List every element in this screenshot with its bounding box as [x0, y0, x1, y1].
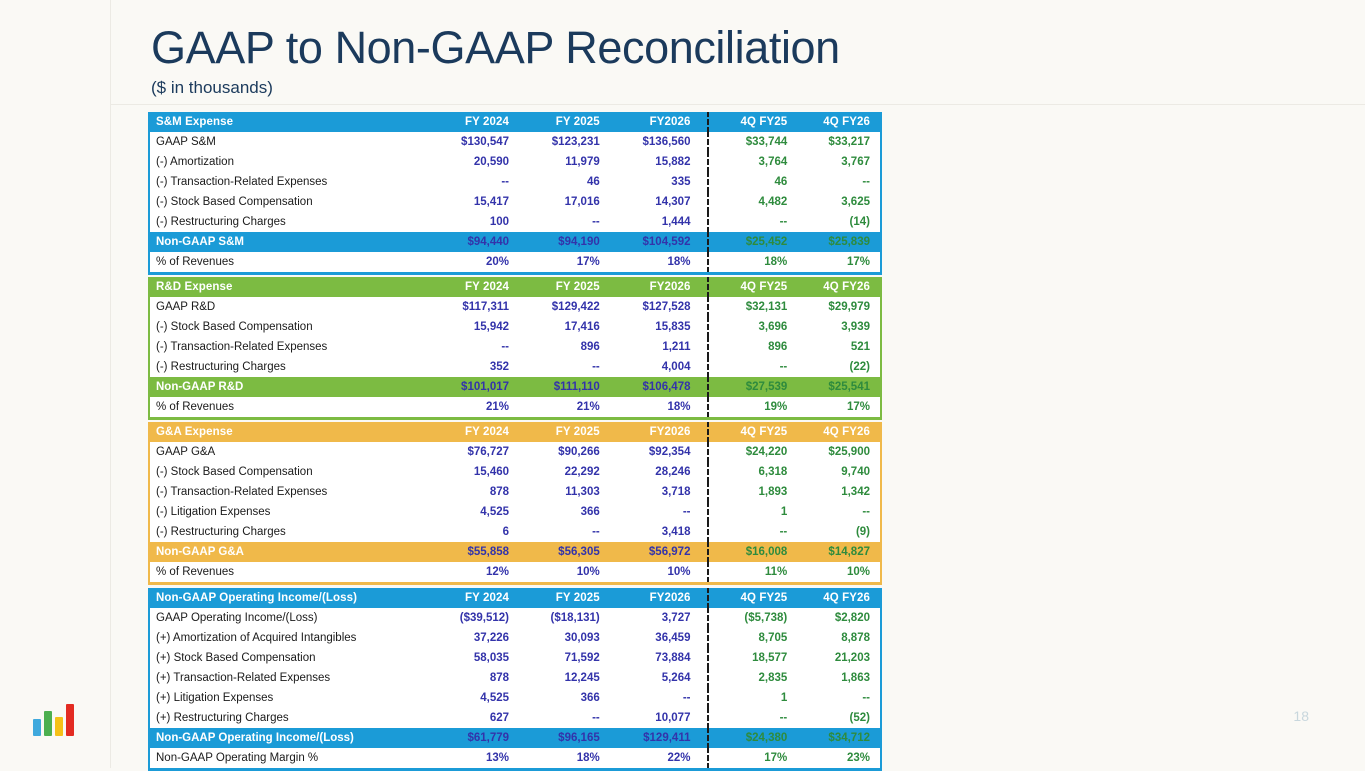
column-divider: [700, 152, 714, 172]
cell-value: 21%: [519, 397, 610, 417]
left-guide-rule: [110, 0, 111, 768]
column-divider: [700, 317, 714, 337]
table-header-label: S&M Expense: [150, 112, 428, 132]
cell-value: 4,525: [428, 502, 519, 522]
cell-value: 12%: [428, 562, 519, 582]
column-header: FY 2025: [519, 588, 610, 608]
cell-value: (9): [797, 522, 880, 542]
column-divider: [700, 337, 714, 357]
cell-value: 17,416: [519, 317, 610, 337]
reconciliation-table-1: S&M ExpenseFY 2024FY 2025FY20264Q FY254Q…: [148, 112, 882, 275]
cell-value: $94,190: [519, 232, 610, 252]
logo-bar-red: [66, 704, 74, 736]
cell-value: $29,979: [797, 297, 880, 317]
bar-chart-logo: [33, 702, 79, 736]
cell-value: 17%: [797, 252, 880, 272]
cell-value: 18%: [610, 252, 701, 272]
table-row: GAAP G&A$76,727$90,266$92,354$24,220$25,…: [150, 442, 880, 462]
cell-value: 30,093: [519, 628, 610, 648]
cell-value: $92,354: [610, 442, 701, 462]
column-divider: [700, 688, 714, 708]
cell-value: $111,110: [519, 377, 610, 397]
column-header: 4Q FY26: [797, 112, 880, 132]
cell-value: ($5,738): [715, 608, 798, 628]
cell-value: 3,696: [715, 317, 798, 337]
cell-value: $2,820: [797, 608, 880, 628]
column-divider: [700, 502, 714, 522]
cell-value: (22): [797, 357, 880, 377]
cell-value: $127,528: [610, 297, 701, 317]
cell-value: $104,592: [610, 232, 701, 252]
cell-value: 8,878: [797, 628, 880, 648]
table-row: (-) Restructuring Charges100--1,444--(14…: [150, 212, 880, 232]
cell-value: 71,592: [519, 648, 610, 668]
table-header-label: R&D Expense: [150, 277, 428, 297]
cell-value: 3,727: [610, 608, 701, 628]
row-label: % of Revenues: [150, 562, 428, 582]
table-header-row: Non-GAAP Operating Income/(Loss)FY 2024F…: [150, 588, 880, 608]
column-header: 4Q FY26: [797, 588, 880, 608]
page-subtitle: ($ in thousands): [151, 77, 840, 99]
row-label: (-) Transaction-Related Expenses: [150, 482, 428, 502]
cell-value: 20%: [428, 252, 519, 272]
cell-value: 17%: [797, 397, 880, 417]
column-header: FY2026: [610, 112, 701, 132]
table-row: GAAP R&D$117,311$129,422$127,528$32,131$…: [150, 297, 880, 317]
cell-value: 4,004: [610, 357, 701, 377]
cell-value: 3,718: [610, 482, 701, 502]
cell-value: 17%: [519, 252, 610, 272]
cell-value: $56,305: [519, 542, 610, 562]
cell-value: --: [715, 522, 798, 542]
table-row: (-) Restructuring Charges352--4,004--(22…: [150, 357, 880, 377]
cell-value: $55,858: [428, 542, 519, 562]
row-label: (-) Amortization: [150, 152, 428, 172]
row-label: (-) Stock Based Compensation: [150, 462, 428, 482]
cell-value: $136,560: [610, 132, 701, 152]
cell-value: $33,217: [797, 132, 880, 152]
cell-value: 14,307: [610, 192, 701, 212]
column-divider: [700, 608, 714, 628]
table-row: (-) Stock Based Compensation15,94217,416…: [150, 317, 880, 337]
cell-value: 6,318: [715, 462, 798, 482]
column-header: FY 2024: [428, 112, 519, 132]
table-header-row: G&A ExpenseFY 2024FY 2025FY20264Q FY254Q…: [150, 422, 880, 442]
column-header: FY 2025: [519, 277, 610, 297]
column-divider: [700, 562, 714, 582]
cell-value: 21%: [428, 397, 519, 417]
cell-value: 19%: [715, 397, 798, 417]
table-header-row: R&D ExpenseFY 2024FY 2025FY20264Q FY254Q…: [150, 277, 880, 297]
cell-value: 627: [428, 708, 519, 728]
table-percent-row: % of Revenues21%21%18%19%17%: [150, 397, 880, 417]
cell-value: --: [428, 337, 519, 357]
cell-value: $25,900: [797, 442, 880, 462]
column-header: FY2026: [610, 588, 701, 608]
cell-value: --: [610, 502, 701, 522]
column-divider: [700, 297, 714, 317]
table-summary-row: Non-GAAP Operating Income/(Loss)$61,779$…: [150, 728, 880, 748]
row-label: % of Revenues: [150, 252, 428, 272]
cell-value: 1,893: [715, 482, 798, 502]
cell-value: --: [715, 212, 798, 232]
column-header: 4Q FY26: [797, 277, 880, 297]
row-label: % of Revenues: [150, 397, 428, 417]
cell-value: 22%: [610, 748, 701, 768]
column-header: FY2026: [610, 422, 701, 442]
cell-value: ($39,512): [428, 608, 519, 628]
cell-value: 15,417: [428, 192, 519, 212]
column-divider: [700, 397, 714, 417]
reconciliation-table-3: G&A ExpenseFY 2024FY 2025FY20264Q FY254Q…: [148, 422, 882, 585]
cell-value: 896: [519, 337, 610, 357]
cell-value: 2,835: [715, 668, 798, 688]
row-label: (-) Transaction-Related Expenses: [150, 172, 428, 192]
cell-value: $16,008: [715, 542, 798, 562]
cell-value: $117,311: [428, 297, 519, 317]
cell-value: 15,942: [428, 317, 519, 337]
column-divider: [700, 442, 714, 462]
cell-value: --: [610, 688, 701, 708]
cell-value: 3,418: [610, 522, 701, 542]
row-label: (+) Litigation Expenses: [150, 688, 428, 708]
cell-value: --: [797, 688, 880, 708]
column-divider: [700, 252, 714, 272]
cell-value: 3,625: [797, 192, 880, 212]
column-divider: [700, 668, 714, 688]
cell-value: 18%: [519, 748, 610, 768]
column-divider: [700, 728, 714, 748]
column-divider: [700, 628, 714, 648]
cell-value: 335: [610, 172, 701, 192]
table-row: (-) Stock Based Compensation15,46022,292…: [150, 462, 880, 482]
cell-value: 28,246: [610, 462, 701, 482]
cell-value: --: [519, 357, 610, 377]
cell-value: 4,482: [715, 192, 798, 212]
cell-value: 11,303: [519, 482, 610, 502]
column-divider: [700, 588, 714, 608]
cell-value: $76,727: [428, 442, 519, 462]
table-summary-row: Non-GAAP G&A$55,858$56,305$56,972$16,008…: [150, 542, 880, 562]
table-row: (+) Amortization of Acquired Intangibles…: [150, 628, 880, 648]
column-header: FY 2024: [428, 422, 519, 442]
column-divider: [700, 748, 714, 768]
cell-value: 3,767: [797, 152, 880, 172]
cell-value: 10%: [797, 562, 880, 582]
cell-value: 3,939: [797, 317, 880, 337]
cell-value: $25,839: [797, 232, 880, 252]
cell-value: 18,577: [715, 648, 798, 668]
cell-value: $129,422: [519, 297, 610, 317]
cell-value: 366: [519, 688, 610, 708]
column-header: 4Q FY25: [715, 112, 798, 132]
cell-value: 352: [428, 357, 519, 377]
table-header-label: G&A Expense: [150, 422, 428, 442]
table-row: (-) Restructuring Charges6--3,418--(9): [150, 522, 880, 542]
row-label: Non-GAAP Operating Income/(Loss): [150, 728, 428, 748]
row-label: GAAP G&A: [150, 442, 428, 462]
reconciliation-table-4: Non-GAAP Operating Income/(Loss)FY 2024F…: [148, 588, 882, 771]
cell-value: 366: [519, 502, 610, 522]
cell-value: 12,245: [519, 668, 610, 688]
table: G&A ExpenseFY 2024FY 2025FY20264Q FY254Q…: [150, 422, 880, 582]
cell-value: $129,411: [610, 728, 701, 748]
column-header: 4Q FY25: [715, 588, 798, 608]
cell-value: 18%: [610, 397, 701, 417]
cell-value: 878: [428, 482, 519, 502]
cell-value: $123,231: [519, 132, 610, 152]
row-label: Non-GAAP G&A: [150, 542, 428, 562]
column-divider: [700, 277, 714, 297]
page-title: GAAP to Non-GAAP Reconciliation: [151, 22, 840, 74]
column-divider: [700, 132, 714, 152]
table-row: GAAP Operating Income/(Loss)($39,512)($1…: [150, 608, 880, 628]
cell-value: $94,440: [428, 232, 519, 252]
row-label: Non-GAAP S&M: [150, 232, 428, 252]
logo-bar-blue: [33, 719, 41, 736]
table-row: (+) Stock Based Compensation58,03571,592…: [150, 648, 880, 668]
column-divider: [700, 232, 714, 252]
cell-value: $14,827: [797, 542, 880, 562]
table-summary-row: Non-GAAP S&M$94,440$94,190$104,592$25,45…: [150, 232, 880, 252]
row-label: (-) Restructuring Charges: [150, 212, 428, 232]
cell-value: ($18,131): [519, 608, 610, 628]
row-label: (+) Amortization of Acquired Intangibles: [150, 628, 428, 648]
cell-value: $90,266: [519, 442, 610, 462]
cell-value: $56,972: [610, 542, 701, 562]
cell-value: 3,764: [715, 152, 798, 172]
cell-value: (14): [797, 212, 880, 232]
logo-bar-yellow: [55, 717, 63, 736]
column-divider: [700, 172, 714, 192]
cell-value: 20,590: [428, 152, 519, 172]
column-divider: [700, 357, 714, 377]
table-percent-row: % of Revenues20%17%18%18%17%: [150, 252, 880, 272]
column-divider: [700, 542, 714, 562]
column-header: FY 2024: [428, 277, 519, 297]
column-header: 4Q FY26: [797, 422, 880, 442]
cell-value: 5,264: [610, 668, 701, 688]
cell-value: $25,452: [715, 232, 798, 252]
cell-value: 100: [428, 212, 519, 232]
table-row: (-) Transaction-Related Expenses87811,30…: [150, 482, 880, 502]
cell-value: 896: [715, 337, 798, 357]
cell-value: 521: [797, 337, 880, 357]
row-label: (-) Litigation Expenses: [150, 502, 428, 522]
cell-value: 1: [715, 688, 798, 708]
row-label: (+) Restructuring Charges: [150, 708, 428, 728]
cell-value: 17%: [715, 748, 798, 768]
column-divider: [700, 648, 714, 668]
column-divider: [700, 422, 714, 442]
cell-value: 878: [428, 668, 519, 688]
cell-value: 10%: [610, 562, 701, 582]
cell-value: $33,744: [715, 132, 798, 152]
column-header: 4Q FY25: [715, 277, 798, 297]
cell-value: --: [715, 708, 798, 728]
cell-value: $61,779: [428, 728, 519, 748]
row-label: (-) Restructuring Charges: [150, 522, 428, 542]
row-label: GAAP S&M: [150, 132, 428, 152]
cell-value: 1,444: [610, 212, 701, 232]
table-row: (-) Stock Based Compensation15,41717,016…: [150, 192, 880, 212]
cell-value: 1,211: [610, 337, 701, 357]
cell-value: 73,884: [610, 648, 701, 668]
cell-value: 17,016: [519, 192, 610, 212]
column-header: 4Q FY25: [715, 422, 798, 442]
cell-value: $34,712: [797, 728, 880, 748]
cell-value: 13%: [428, 748, 519, 768]
cell-value: --: [797, 502, 880, 522]
cell-value: 58,035: [428, 648, 519, 668]
column-divider: [700, 212, 714, 232]
cell-value: 18%: [715, 252, 798, 272]
cell-value: 22,292: [519, 462, 610, 482]
column-divider: [700, 482, 714, 502]
title-divider-rule: [110, 104, 1365, 105]
cell-value: --: [519, 708, 610, 728]
column-header: FY2026: [610, 277, 701, 297]
cell-value: (52): [797, 708, 880, 728]
table-summary-row: Non-GAAP R&D$101,017$111,110$106,478$27,…: [150, 377, 880, 397]
row-label: (-) Stock Based Compensation: [150, 192, 428, 212]
cell-value: 11,979: [519, 152, 610, 172]
cell-value: 36,459: [610, 628, 701, 648]
row-label: (+) Transaction-Related Expenses: [150, 668, 428, 688]
row-label: (-) Stock Based Compensation: [150, 317, 428, 337]
cell-value: 10,077: [610, 708, 701, 728]
cell-value: 1,342: [797, 482, 880, 502]
table-row: (-) Transaction-Related Expenses--8961,2…: [150, 337, 880, 357]
cell-value: 10%: [519, 562, 610, 582]
cell-value: --: [797, 172, 880, 192]
cell-value: 21,203: [797, 648, 880, 668]
cell-value: $130,547: [428, 132, 519, 152]
table: Non-GAAP Operating Income/(Loss)FY 2024F…: [150, 588, 880, 768]
cell-value: 23%: [797, 748, 880, 768]
cell-value: --: [428, 172, 519, 192]
column-divider: [700, 112, 714, 132]
row-label: Non-GAAP R&D: [150, 377, 428, 397]
cell-value: 9,740: [797, 462, 880, 482]
cell-value: $25,541: [797, 377, 880, 397]
column-header: FY 2025: [519, 422, 610, 442]
column-divider: [700, 522, 714, 542]
page-number: 18: [1293, 708, 1309, 724]
reconciliation-table-2: R&D ExpenseFY 2024FY 2025FY20264Q FY254Q…: [148, 277, 882, 420]
cell-value: 1,863: [797, 668, 880, 688]
table-row: GAAP S&M$130,547$123,231$136,560$33,744$…: [150, 132, 880, 152]
cell-value: 8,705: [715, 628, 798, 648]
table-row: (+) Transaction-Related Expenses87812,24…: [150, 668, 880, 688]
cell-value: --: [519, 212, 610, 232]
table: S&M ExpenseFY 2024FY 2025FY20264Q FY254Q…: [150, 112, 880, 272]
title-block: GAAP to Non-GAAP Reconciliation ($ in th…: [151, 22, 840, 99]
table: R&D ExpenseFY 2024FY 2025FY20264Q FY254Q…: [150, 277, 880, 417]
column-divider: [700, 377, 714, 397]
column-divider: [700, 192, 714, 212]
table-percent-row: % of Revenues12%10%10%11%10%: [150, 562, 880, 582]
column-divider: [700, 708, 714, 728]
cell-value: 15,460: [428, 462, 519, 482]
cell-value: 46: [519, 172, 610, 192]
table-header-row: S&M ExpenseFY 2024FY 2025FY20264Q FY254Q…: [150, 112, 880, 132]
cell-value: 4,525: [428, 688, 519, 708]
cell-value: $32,131: [715, 297, 798, 317]
table-row: (+) Litigation Expenses4,525366--1--: [150, 688, 880, 708]
cell-value: 6: [428, 522, 519, 542]
cell-value: --: [715, 357, 798, 377]
table-row: (-) Transaction-Related Expenses--463354…: [150, 172, 880, 192]
cell-value: 1: [715, 502, 798, 522]
logo-bar-green: [44, 711, 52, 736]
cell-value: --: [519, 522, 610, 542]
cell-value: 37,226: [428, 628, 519, 648]
cell-value: 15,882: [610, 152, 701, 172]
cell-value: $106,478: [610, 377, 701, 397]
cell-value: 46: [715, 172, 798, 192]
table-row: (+) Restructuring Charges627--10,077--(5…: [150, 708, 880, 728]
cell-value: $96,165: [519, 728, 610, 748]
row-label: (-) Transaction-Related Expenses: [150, 337, 428, 357]
table-header-label: Non-GAAP Operating Income/(Loss): [150, 588, 428, 608]
row-label: (+) Stock Based Compensation: [150, 648, 428, 668]
cell-value: $27,539: [715, 377, 798, 397]
row-label: Non-GAAP Operating Margin %: [150, 748, 428, 768]
column-divider: [700, 462, 714, 482]
table-percent-row: Non-GAAP Operating Margin %13%18%22%17%2…: [150, 748, 880, 768]
table-row: (-) Litigation Expenses4,525366--1--: [150, 502, 880, 522]
cell-value: $101,017: [428, 377, 519, 397]
table-row: (-) Amortization20,59011,97915,8823,7643…: [150, 152, 880, 172]
cell-value: 11%: [715, 562, 798, 582]
row-label: GAAP R&D: [150, 297, 428, 317]
row-label: GAAP Operating Income/(Loss): [150, 608, 428, 628]
slide-canvas: GAAP to Non-GAAP Reconciliation ($ in th…: [0, 0, 1365, 768]
row-label: (-) Restructuring Charges: [150, 357, 428, 377]
cell-value: $24,380: [715, 728, 798, 748]
column-header: FY 2024: [428, 588, 519, 608]
cell-value: 15,835: [610, 317, 701, 337]
cell-value: $24,220: [715, 442, 798, 462]
column-header: FY 2025: [519, 112, 610, 132]
